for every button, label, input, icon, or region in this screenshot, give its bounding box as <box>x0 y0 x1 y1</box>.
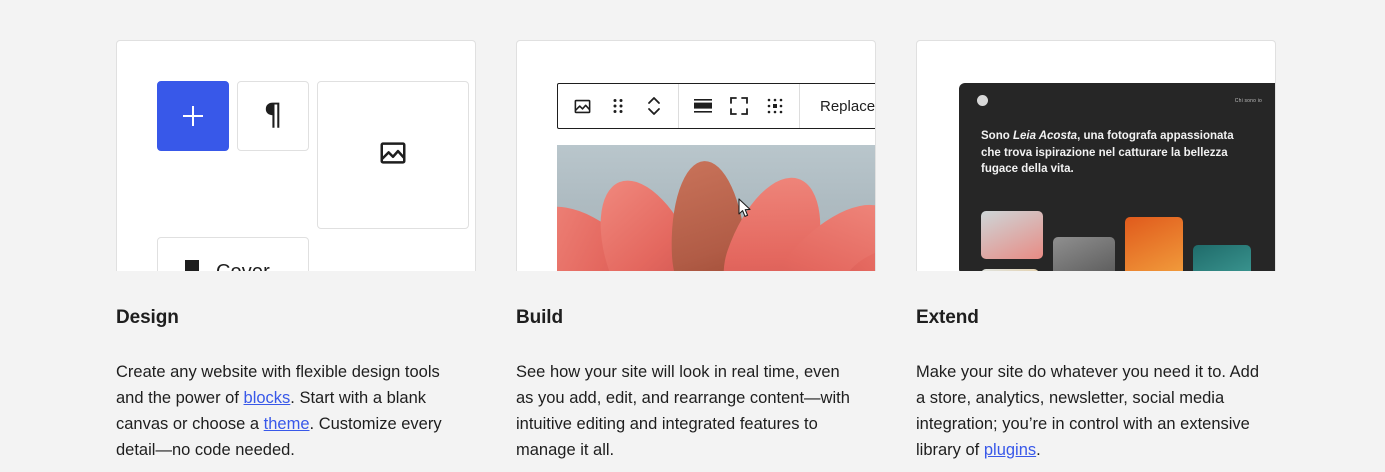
site-preview: Chi sono io Il Progetto Sono Leia Acosta… <box>959 83 1276 271</box>
flower-photo <box>557 145 876 271</box>
toolbar-group-replace: Replace <box>800 84 876 128</box>
feature-body-design: Create any website with flexible design … <box>116 359 460 463</box>
inline-link-plugins[interactable]: plugins <box>984 441 1036 459</box>
toolbar-group-format <box>679 84 800 128</box>
plus-icon <box>183 106 203 126</box>
site-logo-icon <box>977 95 988 106</box>
emphasis-text: Leia Acosta <box>1013 130 1077 142</box>
paragraph-block-button[interactable]: ¶ <box>237 81 309 151</box>
gallery-thumb-yellow-tulip[interactable] <box>981 269 1039 271</box>
block-inserter-grid: ¶ <box>157 81 476 271</box>
gallery-column <box>1125 217 1183 271</box>
inserter-row-1: ¶ <box>157 81 476 229</box>
page-title-build: Build <box>516 307 876 329</box>
image-icon <box>378 138 408 173</box>
image-block-button[interactable] <box>317 81 469 229</box>
site-preview-gallery <box>981 211 1276 271</box>
site-preview-headline: Sono Leia Acosta, una fotografa appassio… <box>959 106 1265 178</box>
toolbar-group-block <box>558 84 679 128</box>
editor-block-toolbar: Replace <box>557 83 876 129</box>
site-nav-item-1[interactable]: Chi sono io <box>1235 98 1262 104</box>
feature-body-extend: Make your site do whatever you need it t… <box>916 359 1260 463</box>
gallery-thumb-orange-wall[interactable] <box>1125 217 1183 271</box>
site-preview-header: Chi sono io Il Progetto <box>959 83 1276 106</box>
move-up-down-icon[interactable] <box>636 84 672 128</box>
gallery-column <box>1053 237 1115 271</box>
inserter-row-2: Cover <box>157 237 476 271</box>
mouse-pointer-icon <box>738 198 752 218</box>
dot-grid-icon[interactable] <box>757 84 793 128</box>
feature-column-design: ¶ <box>116 40 476 463</box>
cover-icon <box>182 259 202 272</box>
gallery-column <box>1193 245 1251 271</box>
page-title-extend: Extend <box>916 307 1276 329</box>
build-media-card: Replace <box>516 40 876 271</box>
extend-media-card: Chi sono io Il Progetto Sono Leia Acosta… <box>916 40 1276 271</box>
feature-column-extend: Chi sono io Il Progetto Sono Leia Acosta… <box>916 40 1276 463</box>
gallery-thumb-teal-vase[interactable] <box>1193 245 1251 271</box>
paragraph-icon: ¶ <box>263 101 282 131</box>
align-icon[interactable] <box>685 84 721 128</box>
site-preview-nav: Chi sono io Il Progetto <box>1235 98 1276 104</box>
inline-link-theme[interactable]: theme <box>264 415 310 433</box>
design-media-card: ¶ <box>116 40 476 271</box>
page-title-design: Design <box>116 307 476 329</box>
cover-block-label: Cover <box>216 261 270 272</box>
columns-container: ¶ <box>116 40 1276 463</box>
cover-block-button[interactable]: Cover <box>157 237 309 271</box>
inline-link-blocks[interactable]: blocks <box>244 389 291 407</box>
feature-columns-page: ¶ <box>0 0 1385 472</box>
image-block-icon[interactable] <box>564 84 600 128</box>
add-block-button[interactable] <box>157 81 229 151</box>
gallery-column <box>981 211 1043 271</box>
feature-body-build: See how your site will look in real time… <box>516 359 860 463</box>
replace-button[interactable]: Replace <box>806 98 876 115</box>
gallery-thumb-grey-stairs[interactable] <box>1053 237 1115 271</box>
crop-fullscreen-icon[interactable] <box>721 84 757 128</box>
drag-handle-icon[interactable] <box>600 84 636 128</box>
gallery-thumb-pink-blossom[interactable] <box>981 211 1043 259</box>
toolbar: Replace <box>557 83 876 129</box>
feature-column-build: Replace <box>516 40 876 463</box>
